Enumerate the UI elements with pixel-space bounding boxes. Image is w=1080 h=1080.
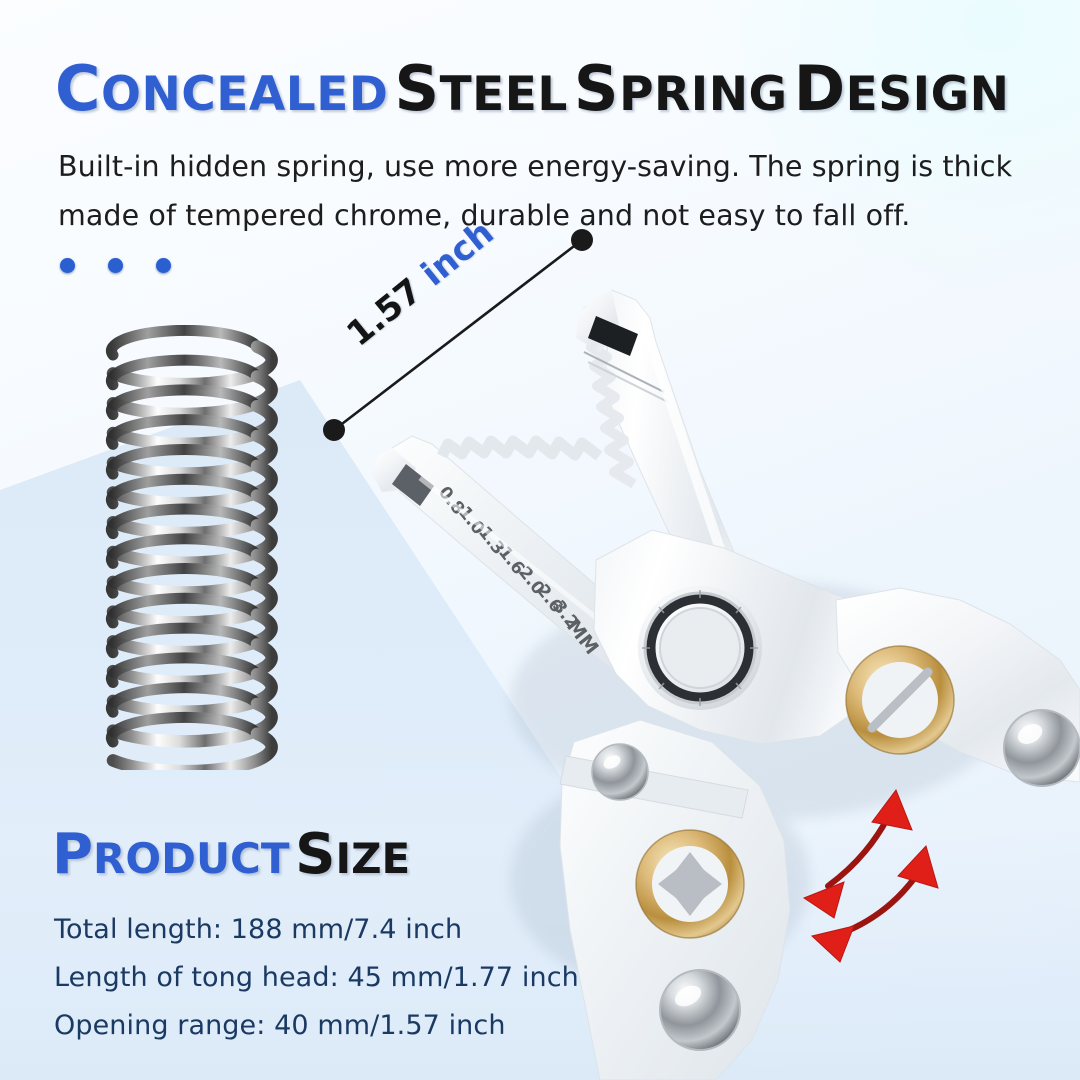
infographic-canvas: CONCEALED STEEL SPRING DESIGN Built-in h…: [0, 0, 1080, 1080]
dimension-value: 1.57: [339, 271, 429, 355]
size-cap-s: S: [295, 822, 335, 887]
spec-tong-head-length: Length of tong head: 45 mm/1.77 inch: [54, 954, 694, 1002]
pivot-ring: [638, 586, 762, 710]
size-cap-p: P: [52, 822, 93, 887]
dimension-callout: 1.57 inch: [300, 215, 640, 475]
product-size-specs: Total length: 188 mm/7.4 inch Length of …: [54, 906, 694, 1050]
dimension-unit: inch: [414, 213, 502, 295]
size-word-size: IZE: [335, 834, 410, 883]
size-word-product: RODUCT: [93, 834, 290, 883]
spec-total-length: Total length: 188 mm/7.4 inch: [54, 906, 694, 954]
brass-slot-screw: [846, 646, 954, 754]
dimension-label: 1.57 inch: [339, 213, 501, 355]
product-size-heading: PRODUCT SIZE: [52, 822, 410, 887]
steel-ball-rivet-right: [1004, 710, 1080, 786]
spec-opening-range: Opening range: 40 mm/1.57 inch: [54, 1002, 694, 1050]
steel-ball-rivet-left: [592, 744, 648, 800]
